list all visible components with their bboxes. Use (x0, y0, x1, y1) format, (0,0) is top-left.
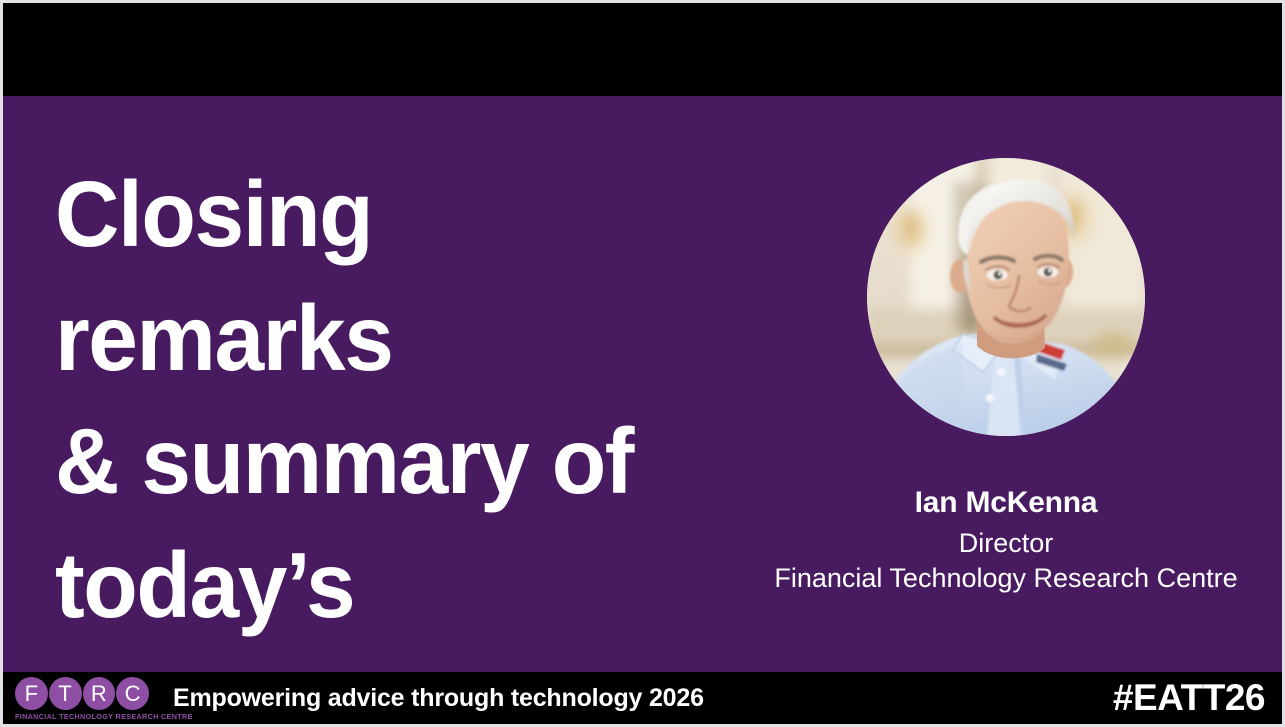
speaker-avatar (867, 158, 1145, 436)
speaker-block: Ian McKenna Director Financial Technolog… (751, 158, 1261, 595)
speaker-portrait-illustration (867, 158, 1145, 436)
logo-letter-f: F (15, 677, 48, 710)
event-hashtag: #EATT26 (1113, 677, 1265, 719)
ftrc-logo-tagline: FINANCIAL TECHNOLOGY RESEARCH CENTRE (15, 712, 149, 721)
event-tagline: Empowering advice through technology 202… (173, 684, 1113, 713)
logo-letter-c: C (116, 677, 149, 710)
slide-body: Closing remarks & summary of today’s tak… (3, 96, 1282, 672)
ftrc-logo: F T R C FINANCIAL TECHNOLOGY RESEARCH CE… (15, 675, 149, 721)
slide-title: Closing remarks & summary of today’s tak… (55, 153, 727, 727)
ftrc-logo-circles: F T R C (15, 675, 149, 710)
footer-bar: F T R C FINANCIAL TECHNOLOGY RESEARCH CE… (3, 672, 1282, 724)
speaker-organisation: Financial Technology Research Centre (751, 563, 1261, 595)
logo-letter-r: R (83, 677, 116, 710)
logo-letter-t: T (49, 677, 82, 710)
top-black-band (3, 3, 1282, 96)
speaker-name: Ian McKenna (751, 488, 1261, 518)
speaker-role: Director (751, 528, 1261, 560)
presentation-slide: Closing remarks & summary of today’s tak… (0, 0, 1285, 727)
